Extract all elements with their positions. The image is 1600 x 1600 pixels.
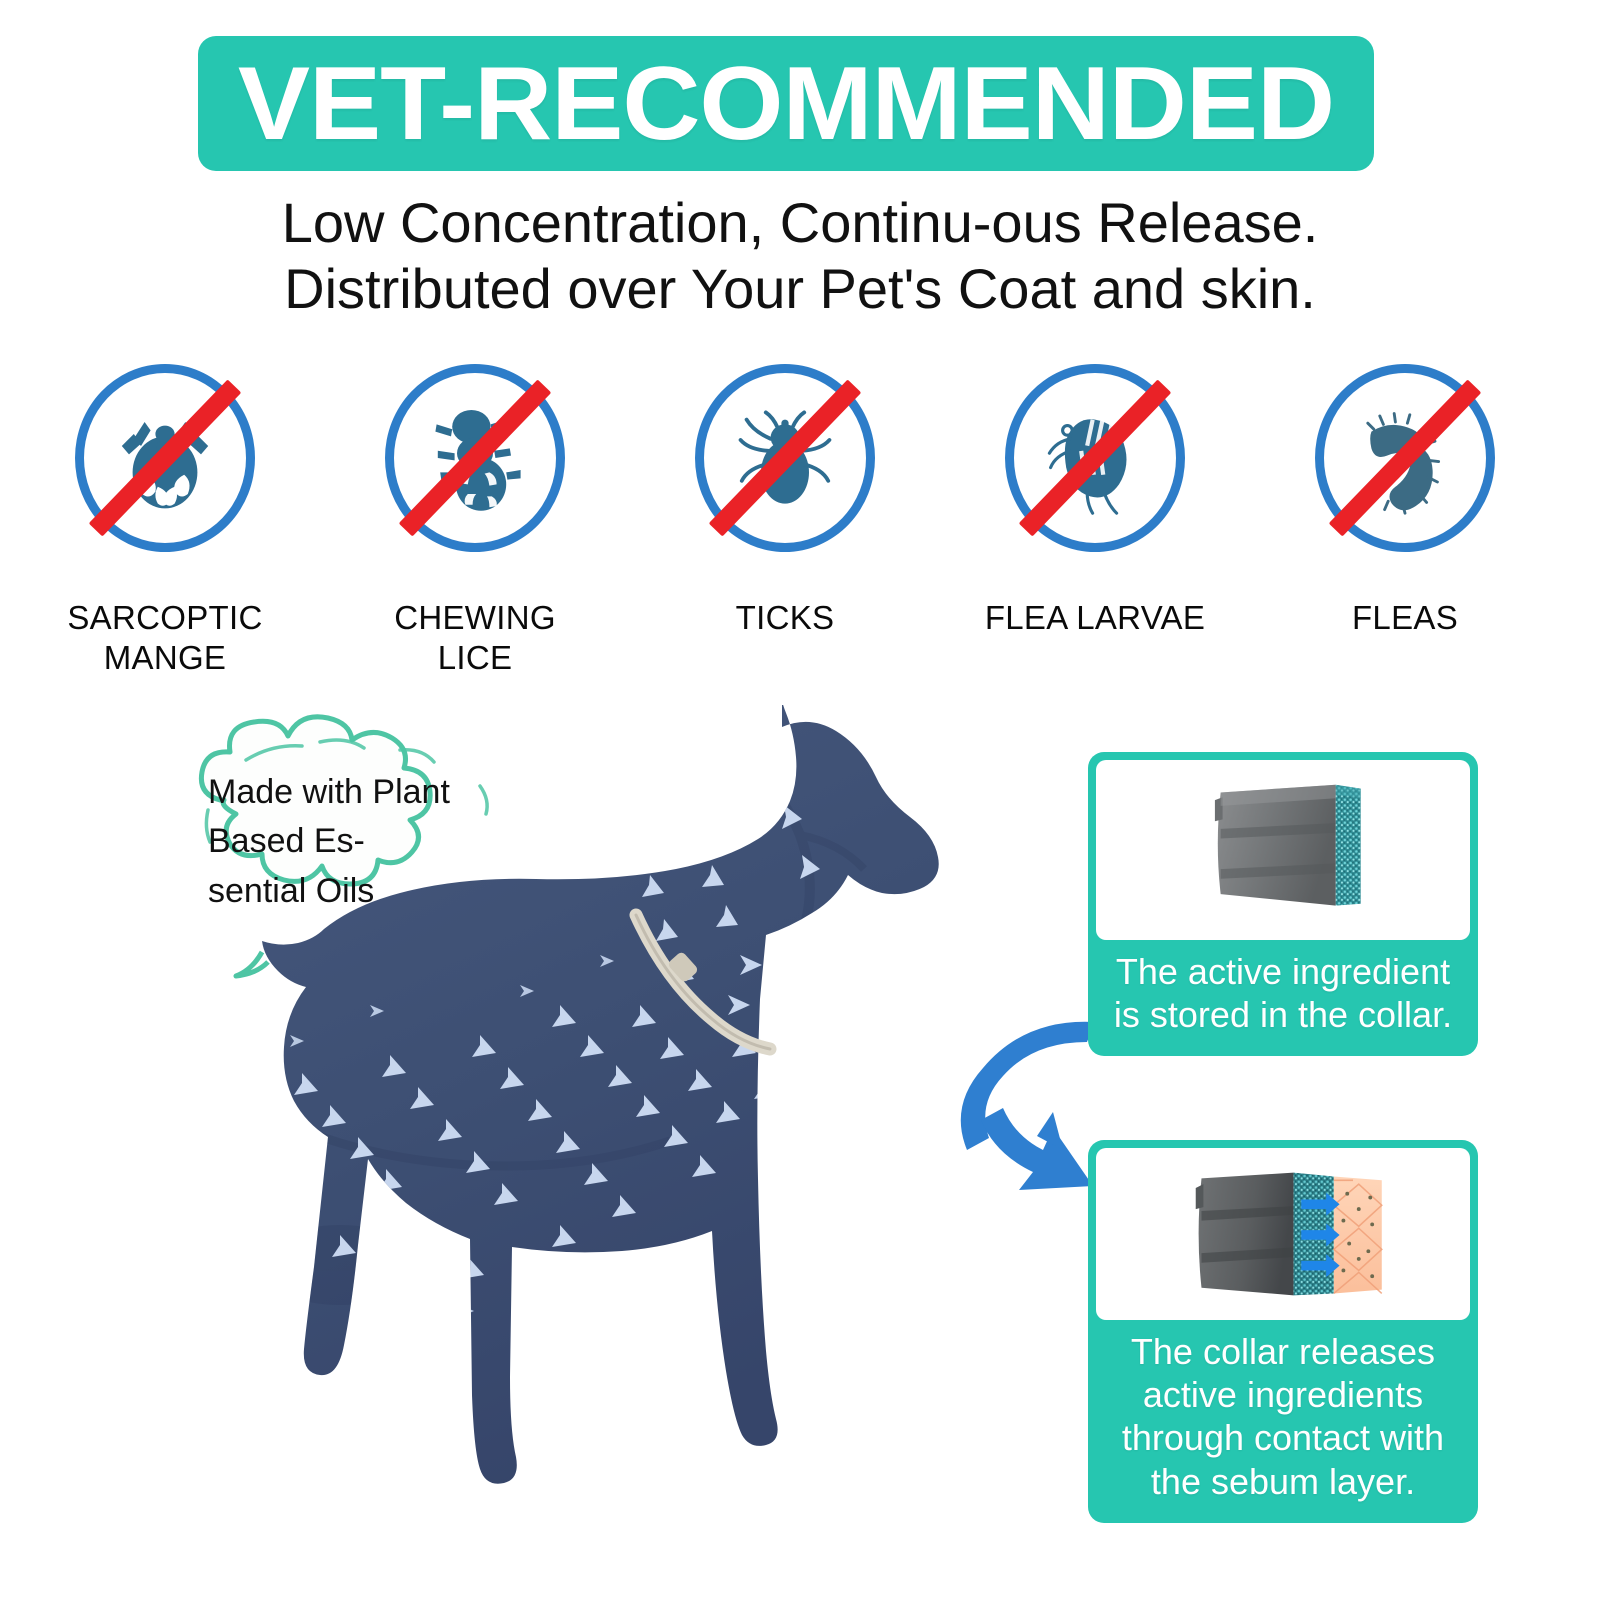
info-panel-sebum-release: The collar releases active ingredients t… [1088, 1140, 1478, 1523]
pest-item-sarcoptic-mange: SARCOPTIC MANGE [15, 360, 315, 679]
dog-body [262, 705, 939, 1484]
pest-item-ticks: TICKS [635, 360, 935, 638]
tick-icon [695, 364, 875, 552]
panel-1-caption: The active ingredient is stored in the c… [1096, 940, 1470, 1048]
pest-label-line-1: SARCOPTIC [15, 598, 315, 638]
pest-label: TICKS [635, 598, 935, 638]
pest-item-chewing-lice: CHEWING LICE [325, 360, 625, 679]
pest-item-fleas: FLEAS [1255, 360, 1555, 638]
pest-label: FLEAS [1255, 598, 1555, 638]
pest-protection-row: SARCOPTIC MANGE [0, 360, 1600, 660]
subtitle-line-2: Distributed over Your Pet's Coat and ski… [0, 256, 1600, 322]
transfer-arrow-icon [1301, 1193, 1339, 1277]
dog-illustration [40, 705, 1000, 1535]
collar-cross-section-image [1096, 760, 1470, 940]
flea-larvae-icon [1005, 364, 1185, 552]
collar-skin-release-svg [1096, 1148, 1470, 1320]
banner-title: VET-RECOMMENDED [238, 52, 1334, 156]
pest-label-line-1: FLEA LARVAE [945, 598, 1245, 638]
pest-label-line-2: MANGE [15, 638, 315, 678]
collar-cross-section-svg [1096, 760, 1470, 940]
infographic-canvas: VET-RECOMMENDED Low Concentration, Conti… [0, 0, 1600, 1600]
panel-2-caption: The collar releases active ingredients t… [1096, 1320, 1470, 1515]
collar-skin-release-image [1096, 1148, 1470, 1320]
flea-icon [1315, 364, 1495, 552]
caption-line-1: The active ingredient [1100, 950, 1466, 993]
info-panel-active-ingredient: The active ingredient is stored in the c… [1088, 752, 1478, 1056]
subtitle-line-1: Low Concentration, Continu-ous Release. [0, 190, 1600, 256]
pest-label: CHEWING LICE [325, 598, 625, 679]
louse-icon [385, 364, 565, 552]
pest-label-line-1: CHEWING [325, 598, 625, 638]
pest-label-line-2: LICE [325, 638, 625, 678]
caption-line-2: is stored in the collar. [1100, 993, 1466, 1036]
subtitle-block: Low Concentration, Continu-ous Release. … [0, 190, 1600, 321]
dog-svg [40, 705, 1000, 1535]
pest-label: SARCOPTIC MANGE [15, 598, 315, 679]
pest-label: FLEA LARVAE [945, 598, 1245, 638]
pest-label-line-1: FLEAS [1255, 598, 1555, 638]
mite-icon [75, 364, 255, 552]
caption-line-2: active ingredients [1100, 1373, 1466, 1416]
vet-recommended-banner: VET-RECOMMENDED [198, 36, 1374, 171]
pest-item-flea-larvae: FLEA LARVAE [945, 360, 1245, 638]
caption-line-1: The collar releases [1100, 1330, 1466, 1373]
caption-line-3: through contact with [1100, 1416, 1466, 1459]
caption-line-4: the sebum layer. [1100, 1460, 1466, 1503]
pest-label-line-1: TICKS [635, 598, 935, 638]
